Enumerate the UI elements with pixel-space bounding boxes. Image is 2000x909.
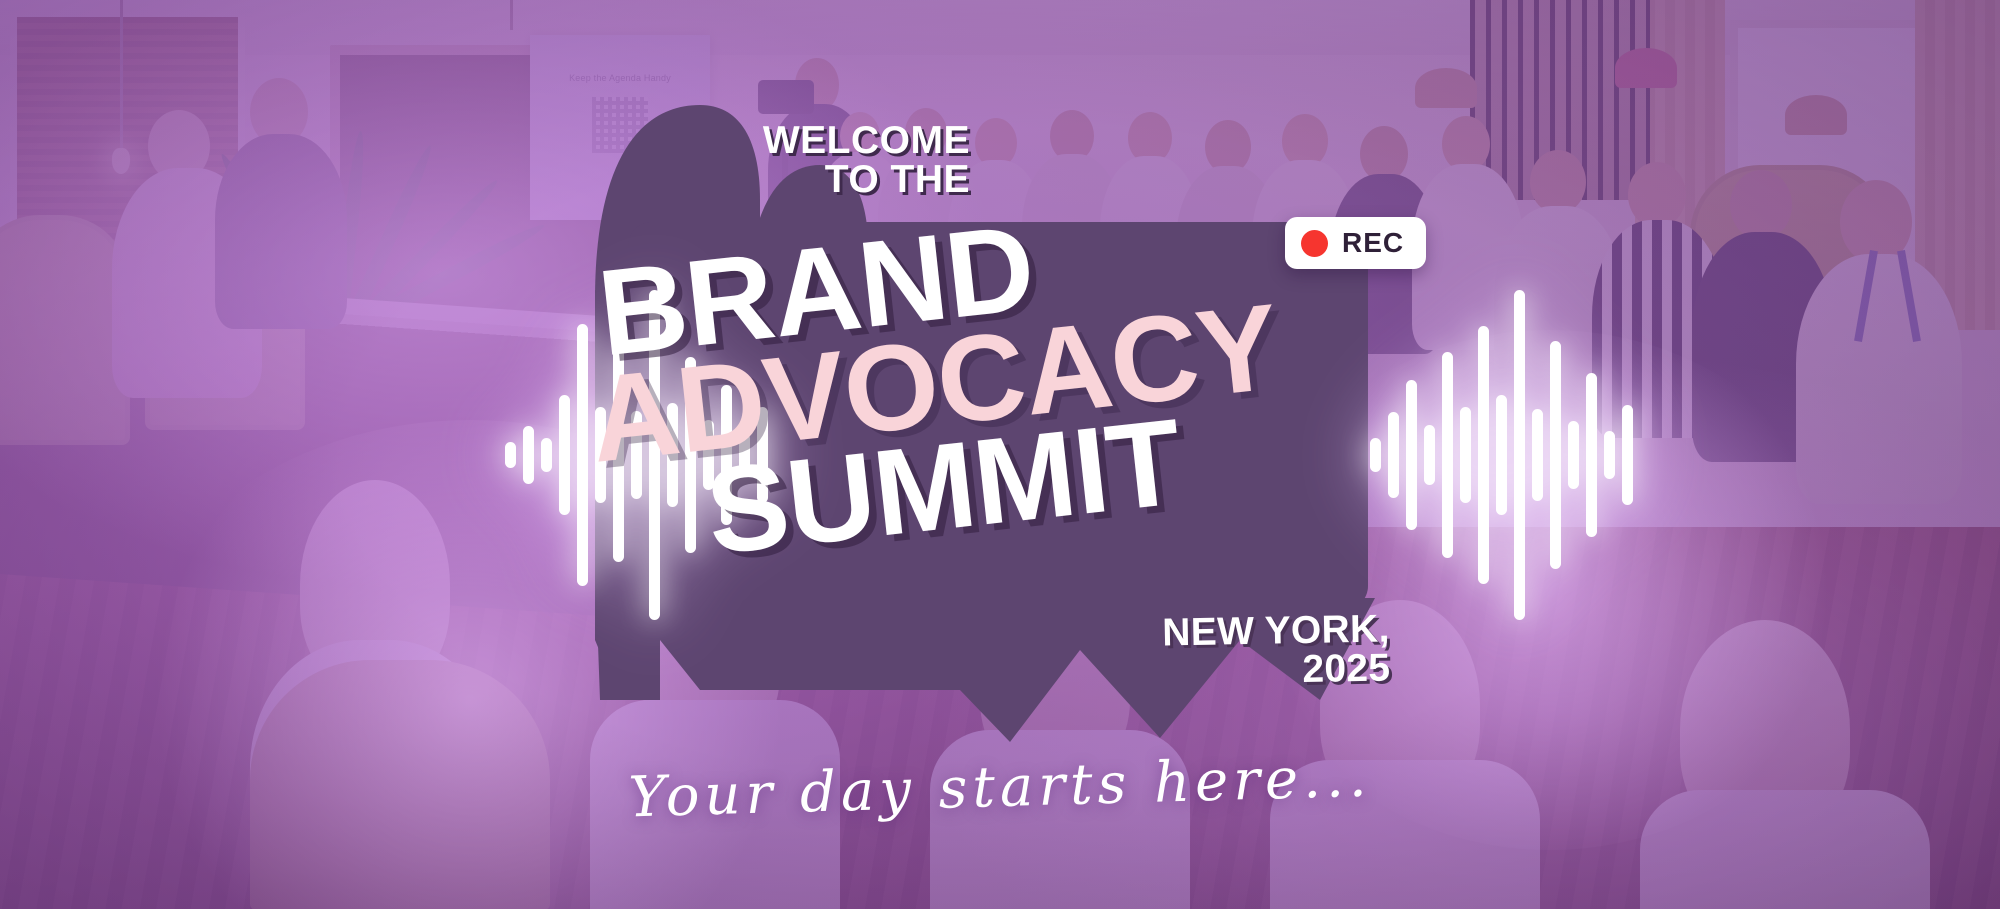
welcome-line-1: WELCOME [720,122,970,161]
waveform-bar [1478,326,1489,584]
rec-label: REC [1342,227,1404,259]
location-year: 2025 [1100,648,1391,692]
waveform-bar [1604,431,1615,479]
waveform-bar [1568,421,1579,489]
waveform-bar [1514,290,1525,620]
hero-banner: Keep the Agenda Handy [0,0,2000,909]
waveform-bar [1586,373,1597,537]
waveform-bar [541,438,552,472]
waveform-bar [523,426,534,484]
welcome-heading: WELCOME TO THE [720,122,970,199]
rec-badge: REC [1285,217,1426,269]
waveform-bar [1460,407,1471,503]
waveform-bar [1550,341,1561,569]
event-location: NEW YORK, 2025 [1099,609,1390,692]
waveform-bar [1532,409,1543,501]
waveform-bar [559,395,570,515]
waveform-bar [1496,395,1507,515]
welcome-line-2: TO THE [720,161,970,200]
record-dot-icon [1301,230,1328,257]
waveform-bar [1622,405,1633,505]
waveform-bar [505,442,516,468]
